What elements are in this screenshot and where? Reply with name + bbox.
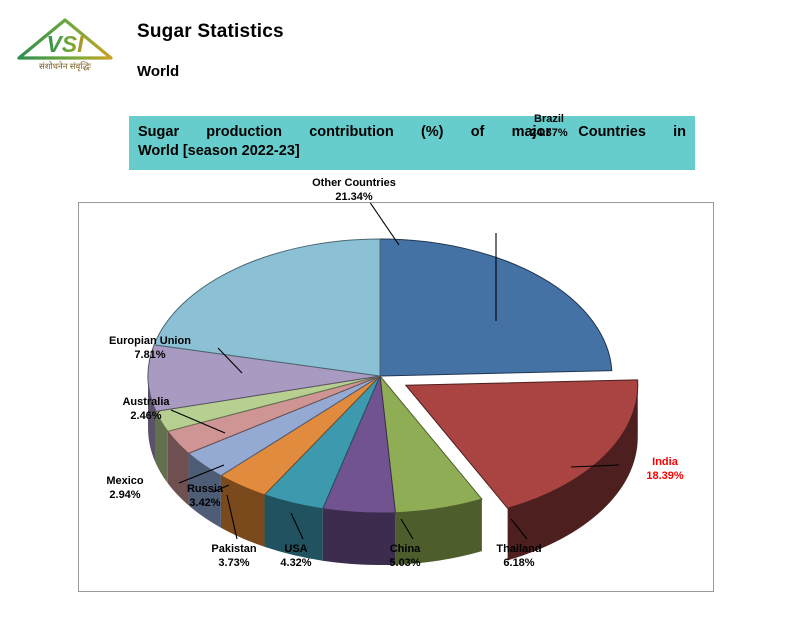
pie-label-india: India 18.39% <box>625 456 705 483</box>
pie-label-australia-name: Australia <box>122 396 169 408</box>
page-subtitle: World <box>137 63 179 80</box>
pie-label-other-countries: Other Countries 21.34% <box>279 177 429 204</box>
pie-chart-frame: Other Countries 21.34% Brazil 24.37% Eur… <box>78 202 714 592</box>
pie-label-china: China 5.03% <box>360 543 450 570</box>
pie-label-thailand: Thailand 6.18% <box>464 543 574 570</box>
pie-label-usa: USA 4.32% <box>251 543 341 570</box>
pie-label-other-countries-name: Other Countries <box>312 177 396 189</box>
pie-label-brazil-name: Brazil <box>534 113 564 125</box>
pie-label-mexico-name: Mexico <box>106 475 143 487</box>
pie-label-other-countries-value: 21.34% <box>279 191 429 205</box>
pie-label-brazil: Brazil 24.37% <box>489 113 609 140</box>
pie-label-brazil-value: 24.37% <box>489 127 609 141</box>
pie-label-india-value: 18.39% <box>625 470 705 484</box>
pie-label-russia: Russia 3.42% <box>155 483 255 510</box>
pie-label-europian-union: Europian Union 7.81% <box>85 335 215 362</box>
banner-line-2: World [season 2022-23] <box>138 142 686 161</box>
vsi-logo: VSI संशोधनेन संवृद्धिः <box>16 16 114 74</box>
pie-label-china-value: 5.03% <box>360 557 450 571</box>
pie-label-india-name: India <box>652 456 678 468</box>
pie-label-thailand-name: Thailand <box>496 543 541 555</box>
pie-label-thailand-value: 6.18% <box>464 557 574 571</box>
pie-label-australia-value: 2.46% <box>91 410 201 424</box>
pie-label-russia-value: 3.42% <box>155 497 255 511</box>
pie-label-usa-name: USA <box>284 543 307 555</box>
pie-label-australia: Australia 2.46% <box>91 396 201 423</box>
logo-tagline-text: संशोधनेन संवृद्धिः <box>39 61 91 72</box>
chart-title-banner: Sugar production contribution (%) of maj… <box>129 116 695 170</box>
pie-label-europian-union-value: 7.81% <box>85 349 215 363</box>
pie-label-china-name: China <box>390 543 421 555</box>
pie-label-pakistan-name: Pakistan <box>211 543 256 555</box>
pie-label-russia-name: Russia <box>187 483 223 495</box>
pie-3d-tops <box>148 239 638 513</box>
svg-text:VSI: VSI <box>46 31 84 57</box>
pie-label-europian-union-name: Europian Union <box>109 335 191 347</box>
page-title: Sugar Statistics <box>137 21 284 43</box>
pie-label-usa-value: 4.32% <box>251 557 341 571</box>
